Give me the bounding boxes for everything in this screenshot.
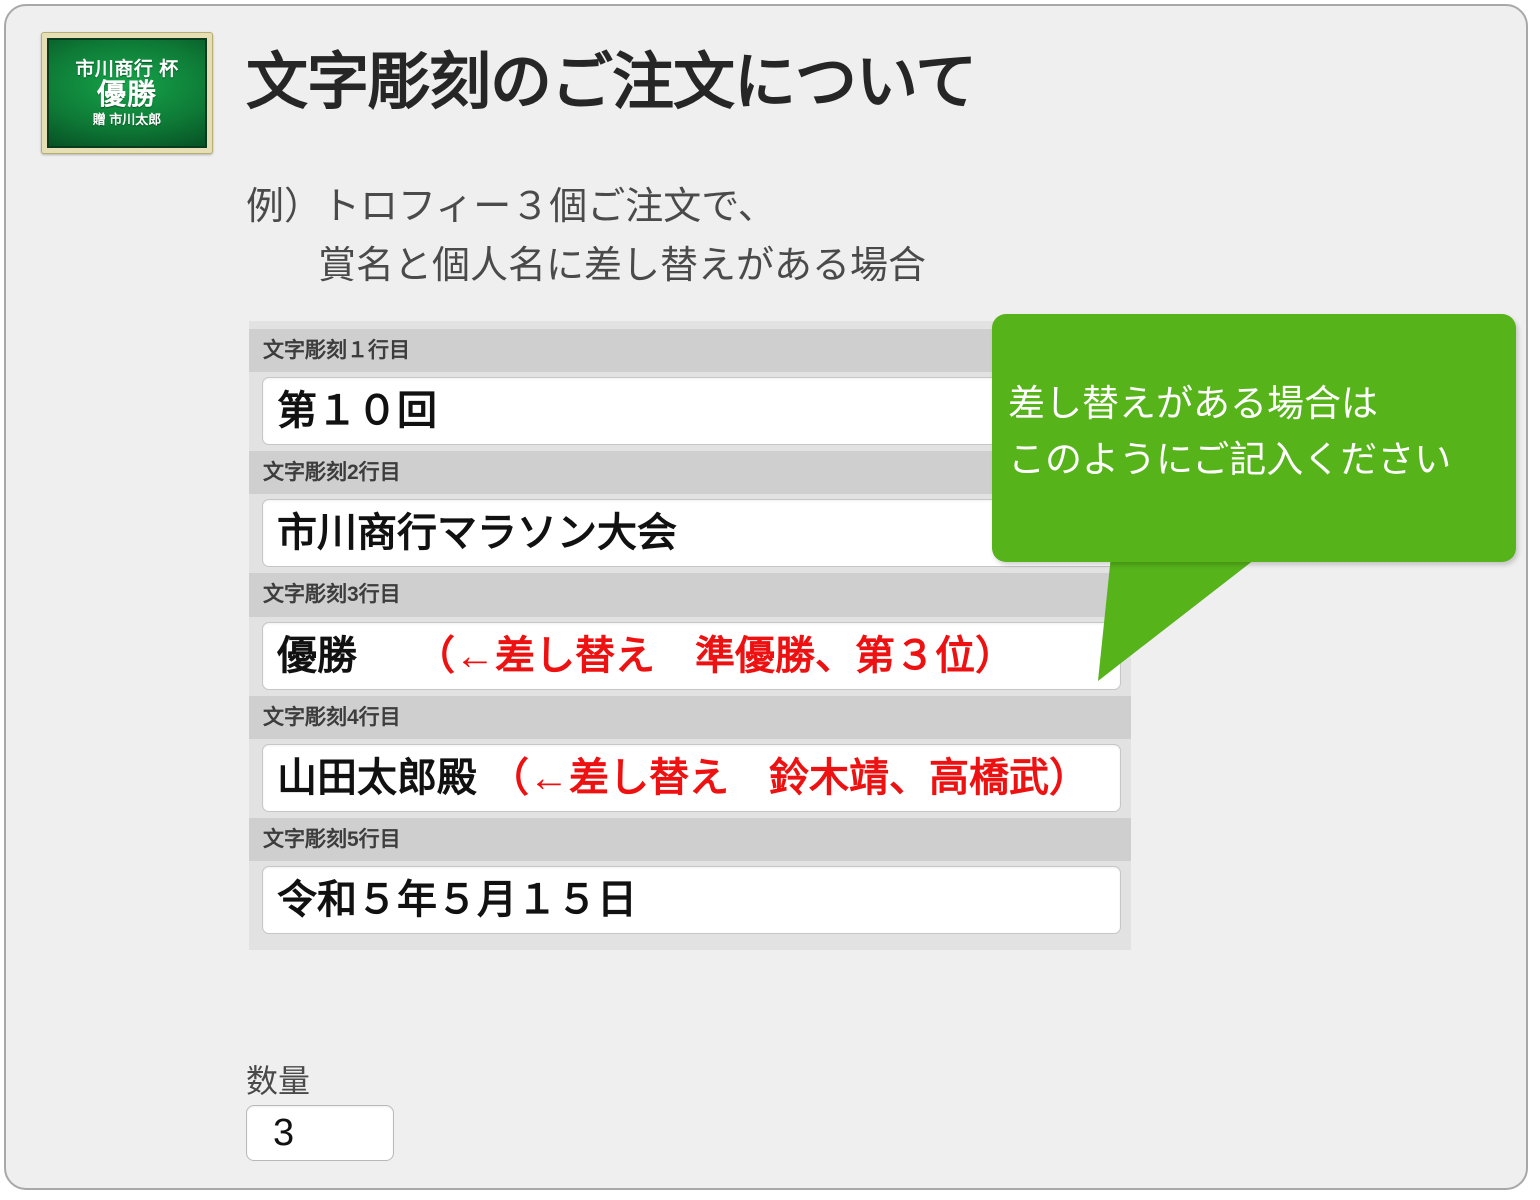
- plate-line-2: 優勝: [97, 81, 157, 110]
- callout-line-2: このようにご記入ください: [1008, 432, 1508, 488]
- engraving-line-4-note: （←差し替え 鈴木靖、高橋武）: [489, 758, 1089, 798]
- plate-line-3: 贈 市川太郎: [93, 113, 162, 126]
- quantity-label: 数量: [246, 1064, 394, 1099]
- engraving-line-5-label: 文字彫刻5行目: [249, 818, 1131, 861]
- page-title: 文字彫刻のご注文について: [246, 52, 976, 114]
- page-header: 市川商行 杯 優勝 贈 市川太郎 文字彫刻のご注文について: [6, 6, 1526, 166]
- engraving-line-3-note: （←差し替え 準優勝、第３位）: [415, 636, 1015, 676]
- callout-bubble: 差し替えがある場合は このようにご記入ください: [992, 314, 1516, 562]
- engraving-line-4-value: 山田太郎殿: [277, 758, 477, 798]
- quantity-input[interactable]: 3: [246, 1105, 394, 1161]
- plate-line-1: 市川商行 杯: [75, 60, 178, 79]
- engraving-line-5-input[interactable]: 令和５年５月１５日: [262, 866, 1121, 934]
- callout-line-1: 差し替えがある場合は: [1008, 383, 1378, 424]
- trophy-plate-inner: 市川商行 杯 優勝 贈 市川太郎: [47, 38, 207, 148]
- page-container: 市川商行 杯 優勝 贈 市川太郎 文字彫刻のご注文について 例）トロフィー３個ご…: [4, 4, 1528, 1190]
- engraving-line-2-value: 市川商行マラソン大会: [277, 513, 677, 553]
- callout-tail: [992, 546, 1352, 696]
- example-line-2: 賞名と個人名に差し替えがある場合: [246, 237, 926, 296]
- trophy-plate-image: 市川商行 杯 優勝 贈 市川太郎: [41, 32, 213, 154]
- engraving-line-4-input[interactable]: 山田太郎殿 （←差し替え 鈴木靖、高橋武）: [262, 744, 1121, 812]
- example-description: 例）トロフィー３個ご注文で、 賞名と個人名に差し替えがある場合: [246, 178, 926, 296]
- callout-text: 差し替えがある場合は このようにご記入ください: [1008, 376, 1508, 488]
- example-line-1: 例）トロフィー３個ご注文で、: [246, 186, 776, 228]
- engraving-row-4: 文字彫刻4行目 山田太郎殿 （←差し替え 鈴木靖、高橋武）: [249, 696, 1131, 812]
- engraving-line-3-value: 優勝: [277, 636, 357, 676]
- engraving-row-5: 文字彫刻5行目 令和５年５月１５日: [249, 818, 1131, 934]
- engraving-line-4-label: 文字彫刻4行目: [249, 696, 1131, 739]
- quantity-block: 数量 3: [246, 1064, 394, 1161]
- engraving-line-5-value: 令和５年５月１５日: [277, 880, 637, 920]
- engraving-line-1-value: 第１０回: [277, 391, 437, 431]
